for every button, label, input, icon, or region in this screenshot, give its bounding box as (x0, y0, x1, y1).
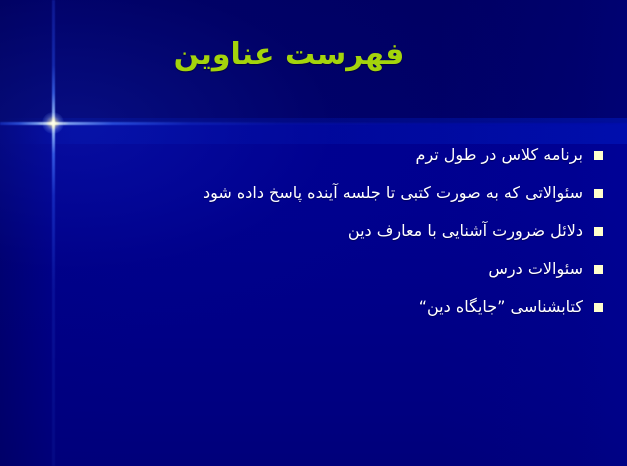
list-item-label: سئوالاتی که به صورت کتبی تا جلسه آینده پ… (203, 183, 583, 203)
list-item-label: کتابشناسی ”جایگاه دین“ (419, 297, 583, 317)
bullet-square-icon (594, 151, 603, 160)
list-item[interactable]: سئوالات درس (17, 250, 609, 288)
list-item[interactable]: کتابشناسی ”جایگاه دین“ (17, 288, 609, 326)
list-item[interactable]: سئوالاتی که به صورت کتبی تا جلسه آینده پ… (17, 174, 609, 212)
slide-bullet-list: برنامه کلاس در طول ترم سئوالاتی که به صو… (17, 136, 609, 326)
list-item[interactable]: برنامه کلاس در طول ترم (17, 136, 609, 174)
bullet-square-icon (594, 265, 603, 274)
list-item-label: دلائل ضرورت آشنایی با معارف دین (348, 221, 583, 241)
list-item-label: برنامه کلاس در طول ترم (416, 145, 583, 165)
bullet-square-icon (594, 189, 603, 198)
bullet-square-icon (594, 227, 603, 236)
bullet-square-icon (594, 303, 603, 312)
slide-title: فهرست عناوین (39, 36, 599, 74)
list-item-label: سئوالات درس (488, 259, 583, 279)
list-item[interactable]: دلائل ضرورت آشنایی با معارف دین (17, 212, 609, 250)
presentation-slide: فهرست عناوین برنامه کلاس در طول ترم سئوا… (0, 0, 627, 466)
